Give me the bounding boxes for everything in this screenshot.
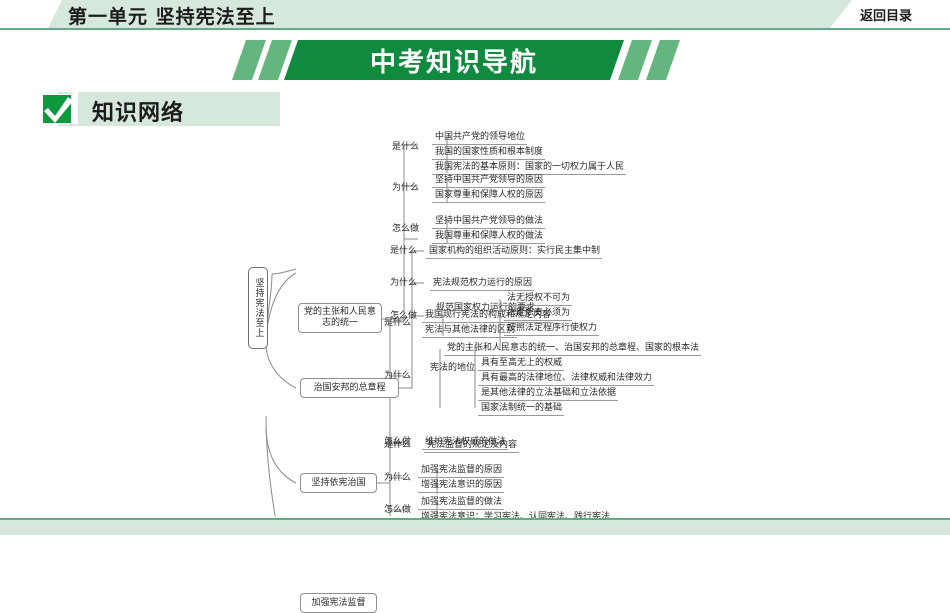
branch-4-group-label-2: 怎么做: [384, 505, 411, 516]
page-title: 第一单元 坚持宪法至上: [68, 2, 276, 29]
branch-2-group-label-1: 为什么: [390, 278, 417, 289]
footer-band: [0, 520, 950, 535]
top-header-bar: 第一单元 坚持宪法至上 返回目录: [0, 0, 950, 32]
branch-node-3[interactable]: 坚持依宪治国: [300, 473, 377, 493]
branch-node-1[interactable]: 党的主张和人民意志的统一: [298, 303, 382, 333]
knowledge-mindmap: 坚持宪法至上 党的主张和人民意志的统一 是什么 中国共产党的领导地位 我国的国家…: [0, 126, 950, 516]
branch-3-leaf-0-1: 宪法与其他法律的区别: [422, 325, 517, 338]
branch-3-group-label-1: 为什么: [384, 371, 411, 382]
branch-1-leaf-0-2: 我国宪法的基本原则：国家的一切权力属于人民: [432, 162, 626, 175]
branch-3-leaf-1-2: 具有最高的法律地位、法律权威和法律效力: [478, 373, 654, 386]
branch-3-group-sublabel-1: 宪法的地位: [430, 363, 464, 374]
branch-1-group-label-0: 是什么: [392, 142, 419, 153]
branch-4-leaf-0-0: 宪法监督的规定及内容: [424, 440, 519, 453]
branch-2-leaf-0-0: 国家机构的组织活动原则：实行民主集中制: [426, 246, 602, 259]
mindmap-root-node[interactable]: 坚持宪法至上: [248, 267, 268, 349]
branch-4-leaf-1-1: 增强宪法意识的原因: [418, 480, 504, 493]
section-heading: 知识网络: [20, 92, 280, 126]
branch-3-leaf-1-1: 具有至高无上的权威: [478, 358, 564, 371]
branch-1-leaf-0-1: 我国的国家性质和根本制度: [432, 147, 545, 160]
branch-4-group-label-1: 为什么: [384, 473, 411, 484]
branch-3-group-label-0: 是什么: [384, 318, 411, 329]
branch-1-group-label-2: 怎么做: [392, 224, 419, 235]
branch-1-leaf-1-1: 国家尊重和保障人权的原因: [432, 190, 545, 203]
back-to-contents-button[interactable]: 返回目录: [860, 5, 912, 24]
header-divider: [0, 28, 950, 30]
branch-1-leaf-1-0: 坚持中国共产党领导的原因: [432, 175, 545, 188]
banner-slash-right-outer: [646, 40, 680, 80]
branch-3-leaf-0-0: 我国现行宪法的构成和规定内容: [422, 310, 553, 323]
branch-1-group-label-1: 为什么: [392, 183, 419, 194]
branch-1-leaf-0-0: 中国共产党的领导地位: [432, 132, 527, 145]
branch-2-leaf-2-0: 法无授权不可为: [504, 293, 572, 306]
branch-4-leaf-1-0: 加强宪法监督的原因: [418, 465, 504, 478]
branch-node-4[interactable]: 加强宪法监督: [300, 593, 377, 613]
branch-1-leaf-2-1: 我国尊重和保障人权的做法: [432, 231, 545, 244]
branch-2-leaf-1-0: 宪法规范权力运行的原因: [430, 278, 534, 291]
branch-2-group-label-0: 是什么: [390, 246, 417, 257]
branch-3-leaf-1-4: 国家法制统一的基础: [478, 403, 564, 416]
branch-1-leaf-2-0: 坚持中国共产党领导的做法: [432, 216, 545, 229]
branch-4-leaf-2-0: 加强宪法监督的做法: [418, 497, 504, 510]
check-icon: [40, 90, 80, 128]
banner-title: 中考知识导航: [284, 40, 624, 80]
branch-3-leaf-1-3: 是其他法律的立法基础和立法依据: [478, 388, 618, 401]
section-heading-title: 知识网络: [92, 95, 184, 127]
knowledge-navigation-banner: 中考知识导航: [232, 40, 712, 80]
branch-2-leaf-2-2: 按照法定程序行使权力: [504, 323, 599, 336]
branch-3-leaf-1-0: 党的主张和人民意志的统一、治国安邦的总章程、国家的根本法: [444, 343, 701, 356]
branch-4-group-label-0: 是什么: [384, 440, 411, 451]
